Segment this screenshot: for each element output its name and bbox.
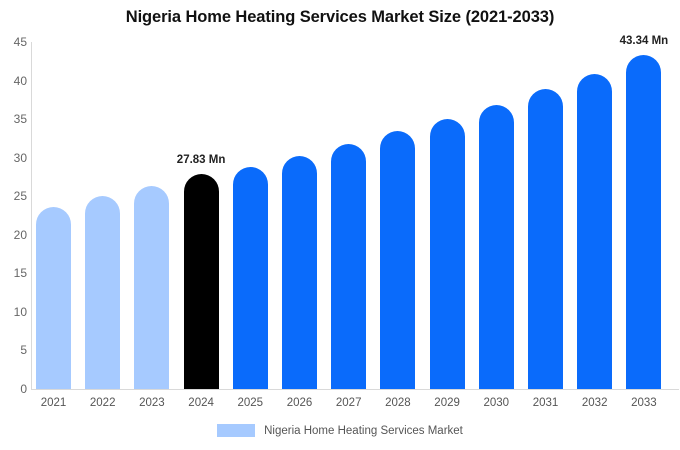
bar-2024[interactable] (184, 174, 219, 389)
bar-2030[interactable] (479, 105, 514, 389)
bar-2022[interactable] (85, 196, 120, 389)
bar-2031[interactable] (528, 89, 563, 389)
x-axis-tick-label: 2028 (373, 397, 423, 409)
y-axis-tick-label: 15 (3, 267, 27, 279)
x-axis-tick-label: 2025 (225, 397, 275, 409)
bar-2032[interactable] (577, 74, 612, 389)
bar-2027[interactable] (331, 144, 366, 389)
x-axis-tick-label: 2027 (324, 397, 374, 409)
bar-2033[interactable] (626, 55, 661, 389)
x-axis-tick-label: 2033 (619, 397, 669, 409)
bar-2029[interactable] (430, 119, 465, 389)
chart-title: Nigeria Home Heating Services Market Siz… (0, 8, 680, 27)
y-axis-tick-labels: 051015202530354045 (0, 0, 27, 450)
x-axis-line (31, 389, 679, 390)
y-axis-tick-label: 45 (3, 36, 27, 48)
bar-value-label-2024: 27.83 Mn (177, 154, 226, 166)
y-axis-tick-label: 20 (3, 229, 27, 241)
bar-value-label-2033: 43.34 Mn (620, 35, 669, 47)
chart-legend: Nigeria Home Heating Services Market (0, 424, 680, 437)
x-axis-tick-label: 2023 (127, 397, 177, 409)
y-axis-tick-label: 40 (3, 75, 27, 87)
bar-2021[interactable] (36, 207, 71, 389)
bar-chart: Nigeria Home Heating Services Market Siz… (0, 0, 680, 450)
plot-area (31, 42, 679, 389)
x-axis-tick-label: 2031 (521, 397, 571, 409)
y-axis-tick-label: 25 (3, 190, 27, 202)
legend-swatch-icon (217, 424, 255, 437)
x-axis-tick-label: 2030 (471, 397, 521, 409)
x-axis-tick-label: 2032 (570, 397, 620, 409)
x-axis-tick-label: 2022 (78, 397, 128, 409)
x-axis-tick-label: 2024 (176, 397, 226, 409)
y-axis-tick-label: 0 (3, 383, 27, 395)
bar-2026[interactable] (282, 156, 317, 389)
y-axis-tick-label: 5 (3, 344, 27, 356)
x-axis-tick-label: 2029 (422, 397, 472, 409)
x-axis-tick-label: 2021 (29, 397, 79, 409)
legend-item-label: Nigeria Home Heating Services Market (264, 425, 463, 437)
bar-2025[interactable] (233, 167, 268, 389)
x-axis-tick-label: 2026 (275, 397, 325, 409)
y-axis-tick-label: 10 (3, 306, 27, 318)
y-axis-tick-label: 30 (3, 152, 27, 164)
y-axis-tick-label: 35 (3, 113, 27, 125)
bar-2023[interactable] (134, 186, 169, 389)
bar-2028[interactable] (380, 131, 415, 389)
